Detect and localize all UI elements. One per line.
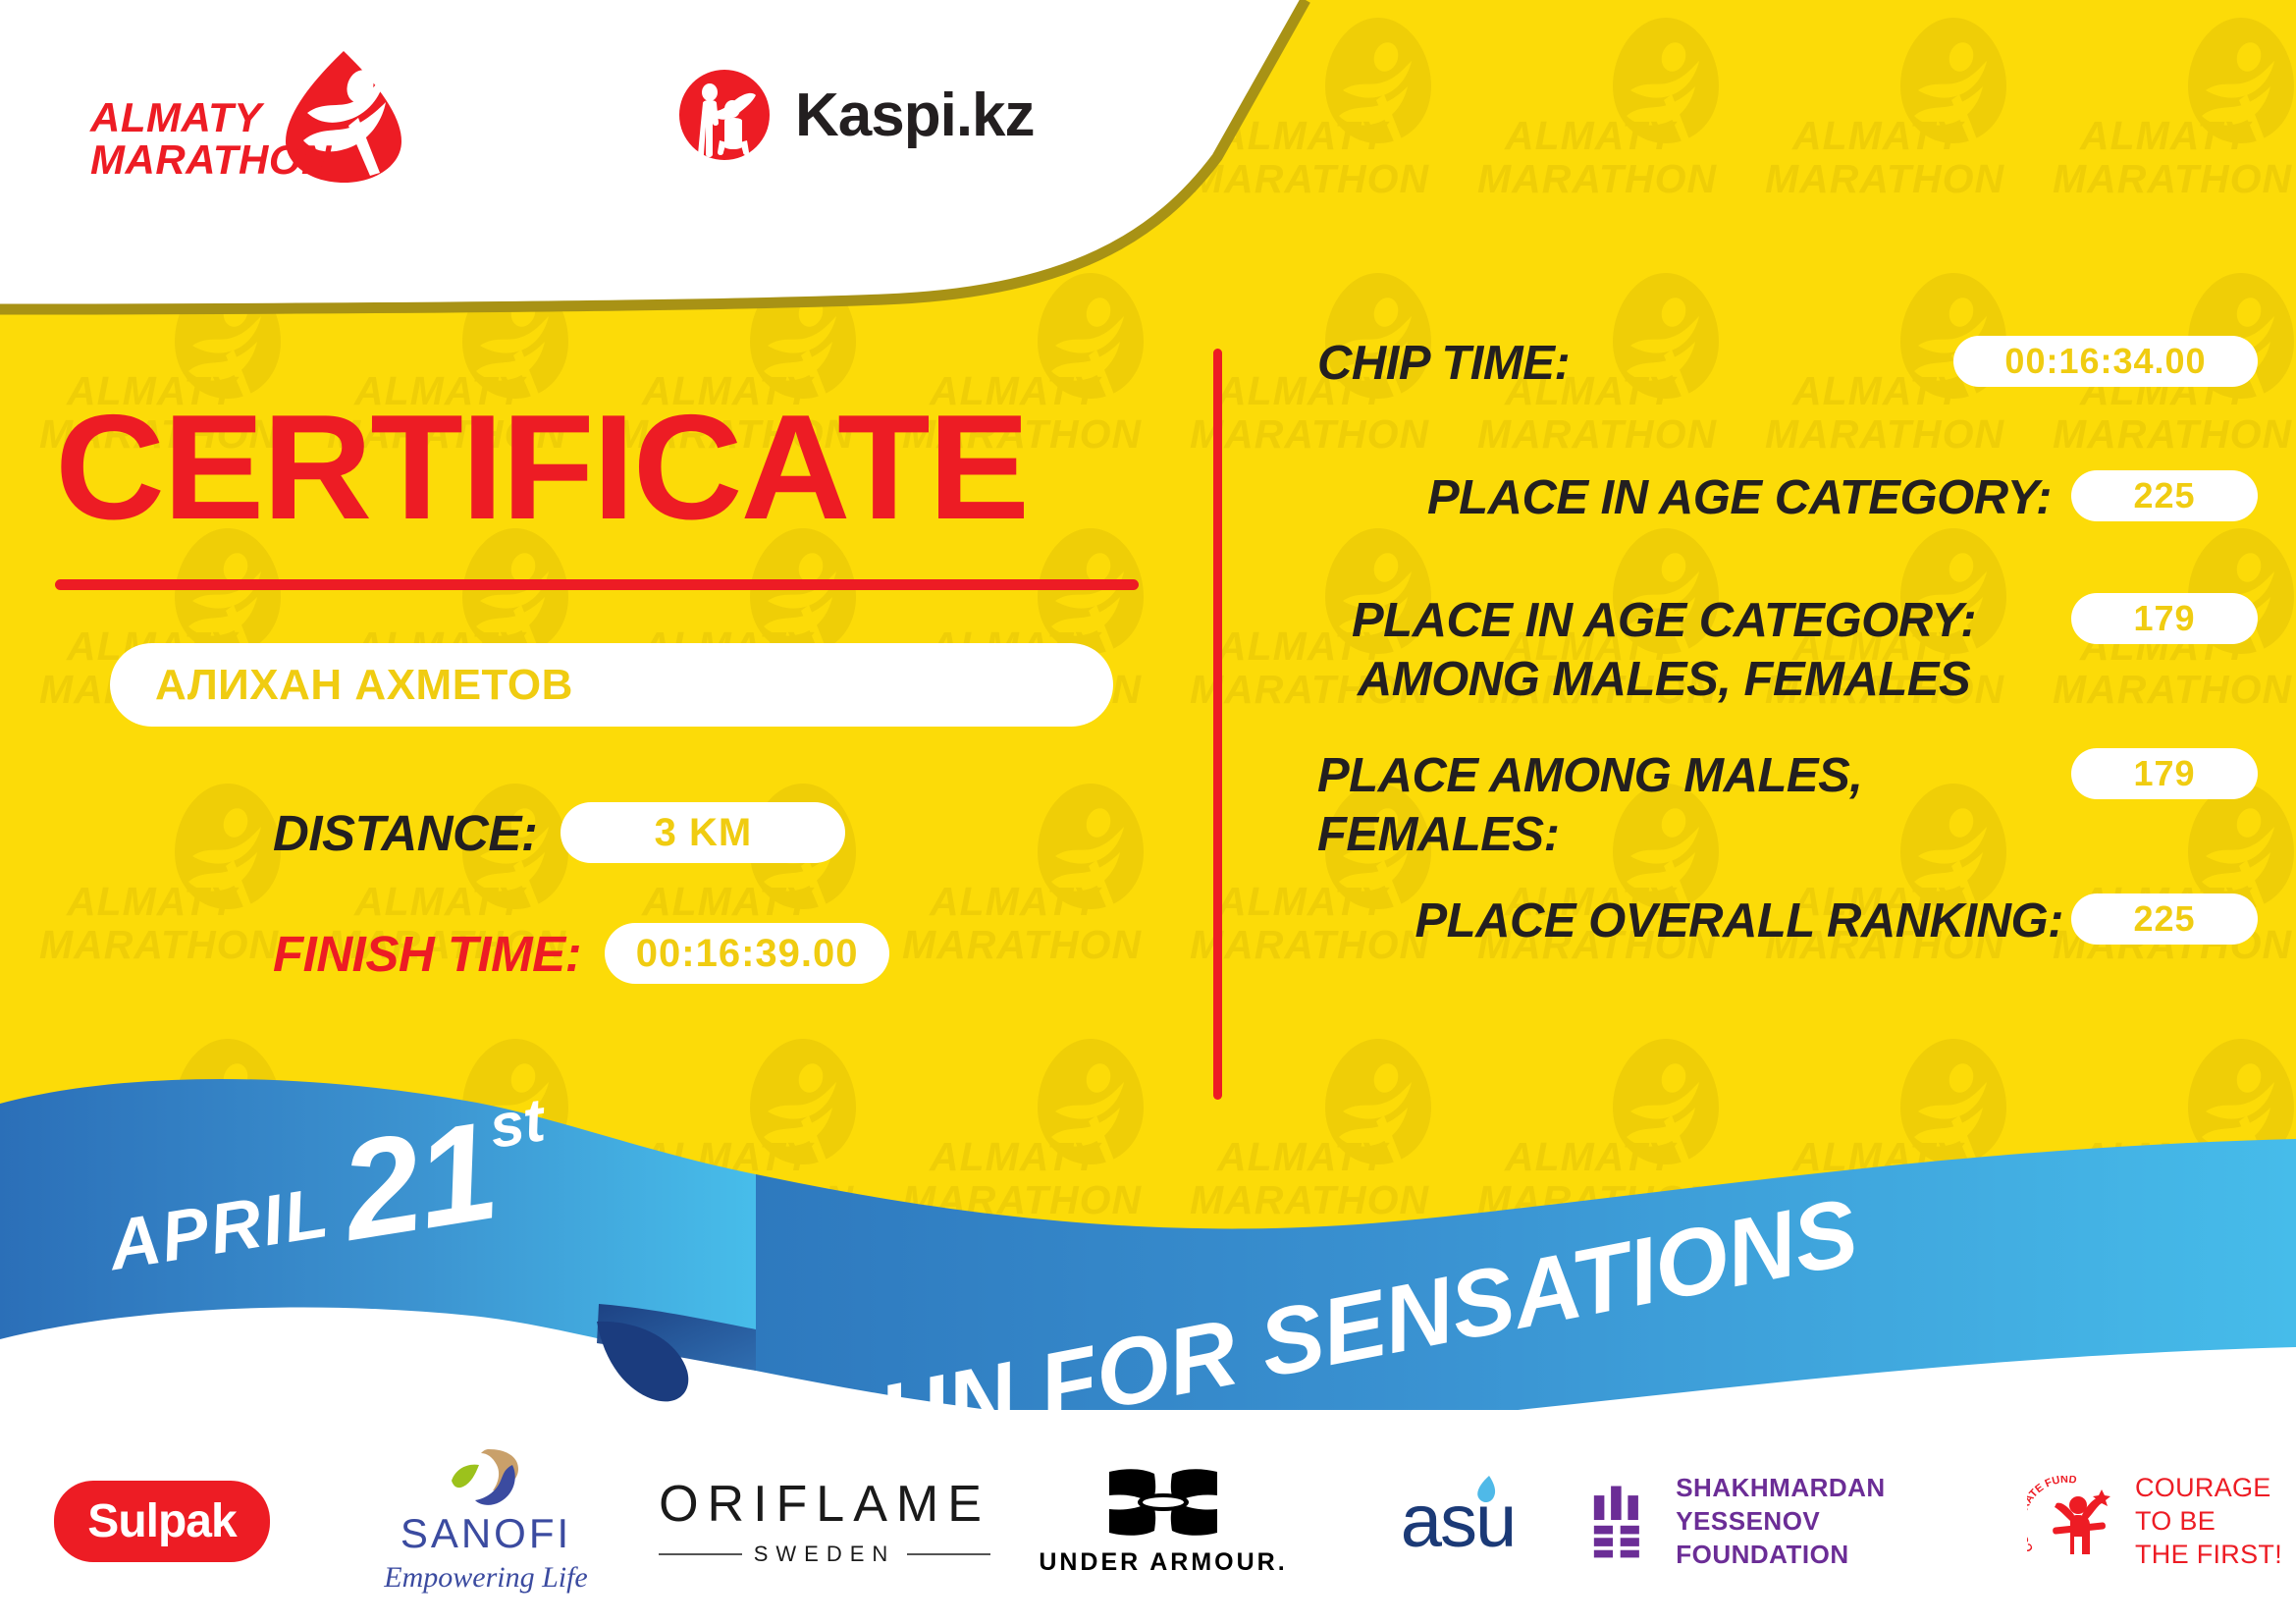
almaty-marathon-logo: ALMATY MARATHON [90,47,414,175]
oriflame-rule-right [907,1553,990,1555]
sanofi-logo: SANOFI Empowering Life [384,1447,588,1595]
oriflame-rule-left [659,1553,742,1555]
ribbon-day: 21 [331,1091,506,1273]
courage-line1: COURAGE [2135,1471,2282,1504]
result-row-place-age-category-among: PLACE IN AGE CATEGORY: AMONG MALES, FEMA… [1276,591,2258,709]
oriflame-logo: ORIFLAME SWEDEN [659,1475,990,1567]
under-armour-logo: UNDER ARMOUR. [1039,1466,1287,1577]
place-overall-ranking-label: PLACE OVERALL RANKING: [1276,892,2071,950]
place-age-category-among-line2: AMONG MALES, FEMALES [1276,650,2052,709]
distance-value: 3 KM [655,811,753,855]
chip-time-value: 00:16:34.00 [2004,341,2206,382]
finish-time-row: FINISH TIME: 00:16:39.00 [273,923,889,984]
kaspi-logo-text: Kaspi.kz [795,81,1035,150]
result-row-place-among-males-females: PLACE AMONG MALES, FEMALES: 179 [1276,746,2258,864]
place-among-males-females-line1: PLACE AMONG MALES, [1317,746,2071,805]
courage-line2: TO BE [2135,1504,2282,1538]
sponsor-sulpak: Sulpak [0,1452,324,1590]
title-divider-rule [55,579,1139,590]
yessenov-bars-icon [1590,1483,1654,1559]
oriflame-sub-row: SWEDEN [659,1542,990,1567]
sponsor-courage-to-be-the-first: CORPORATE FUND COURAGE TO BE THE FIRST! [2022,1452,2287,1590]
finish-time-value-pill: 00:16:39.00 [605,923,889,984]
finish-time-value: 00:16:39.00 [636,932,859,976]
result-row-chip-time: CHIP TIME: 00:16:34.00 [1276,334,2258,393]
courage-wordmark: COURAGE TO BE THE FIRST! [2135,1471,2282,1571]
participant-name-value: АЛИХАН АХМЕТОВ [110,661,573,710]
sponsor-strip: Sulpak SANOFI Empowering Life ORIFLAME S… [0,1418,2296,1624]
place-age-category-value: 225 [2133,475,2195,516]
place-age-category-label: PLACE IN AGE CATEGORY: [1276,468,2071,527]
place-among-males-females-label: PLACE AMONG MALES, FEMALES: [1276,746,2071,864]
column-divider [1213,349,1222,1100]
place-overall-ranking-value: 225 [2133,898,2195,940]
place-among-males-females-value: 179 [2133,753,2195,794]
place-age-category-among-label: PLACE IN AGE CATEGORY: AMONG MALES, FEMA… [1276,591,2071,709]
oriflame-sub: SWEDEN [754,1542,896,1567]
header: ALMATY MARATHON Kaspi.kz [0,0,1315,295]
sanofi-tagline: Empowering Life [384,1561,588,1595]
page-title: CERTIFICATE [55,393,1028,542]
sulpak-logo: Sulpak [54,1481,269,1562]
certificate-canvas: ALMATY MARATHON ALM [0,0,2296,1624]
participant-name-field: АЛИХАН АХМЕТОВ [110,643,1113,727]
yessenov-logo: SHAKHMARDAN YESSENOV FOUNDATION [1590,1471,2022,1571]
place-overall-ranking-value-pill: 225 [2071,893,2258,945]
courage-runner-icon: CORPORATE FUND [2027,1476,2121,1566]
place-age-category-among-value-pill: 179 [2071,593,2258,644]
distance-value-pill: 3 KM [561,802,845,863]
yessenov-wordmark: SHAKHMARDAN YESSENOV FOUNDATION [1676,1471,2022,1571]
under-armour-wordmark: UNDER ARMOUR. [1039,1548,1287,1577]
sponsor-under-armour: UNDER ARMOUR. [1001,1452,1325,1590]
place-among-males-females-line2: FEMALES: [1317,805,2071,864]
place-age-category-value-pill: 225 [2071,470,2258,521]
almaty-logo-line1: ALMATY [90,96,332,138]
courage-logo: CORPORATE FUND COURAGE TO BE THE FIRST! [2027,1471,2282,1571]
sponsor-asu: asu [1325,1452,1590,1590]
yessenov-line2: FOUNDATION [1676,1538,2022,1571]
place-among-males-females-value-pill: 179 [2071,748,2258,799]
under-armour-icon [1099,1466,1227,1543]
place-age-category-among-value: 179 [2133,598,2195,639]
chip-time-label: CHIP TIME: [1276,334,1953,393]
yessenov-line1: SHAKHMARDAN YESSENOV [1676,1471,2022,1538]
finish-time-label: FINISH TIME: [273,925,581,983]
kaspi-logo: Kaspi.kz [675,61,1035,169]
distance-label: DISTANCE: [273,804,537,862]
distance-row: DISTANCE: 3 KM [273,802,845,863]
ribbon-month: APRIL [103,1172,335,1286]
result-row-place-overall-ranking: PLACE OVERALL RANKING: 225 [1276,892,2258,950]
courage-line3: THE FIRST! [2135,1538,2282,1571]
result-row-place-age-category: PLACE IN AGE CATEGORY: 225 [1276,468,2258,527]
ribbon-day-suffix: st [485,1085,550,1163]
sanofi-wordmark: SANOFI [400,1510,571,1557]
sponsor-yessenov-foundation: SHAKHMARDAN YESSENOV FOUNDATION [1590,1452,2022,1590]
kaspi-family-circle-icon [675,66,774,164]
asu-logo: asu [1401,1479,1516,1564]
almaty-logo-text: ALMATY MARATHON [90,96,332,181]
sponsor-sanofi: SANOFI Empowering Life [324,1452,648,1590]
almaty-logo-line2: MARATHON [90,138,332,181]
sanofi-mark-icon [442,1447,530,1510]
place-age-category-among-line1: PLACE IN AGE CATEGORY: [1276,591,2052,650]
asu-droplet-icon [1473,1475,1499,1508]
chip-time-value-pill: 00:16:34.00 [1953,336,2258,387]
